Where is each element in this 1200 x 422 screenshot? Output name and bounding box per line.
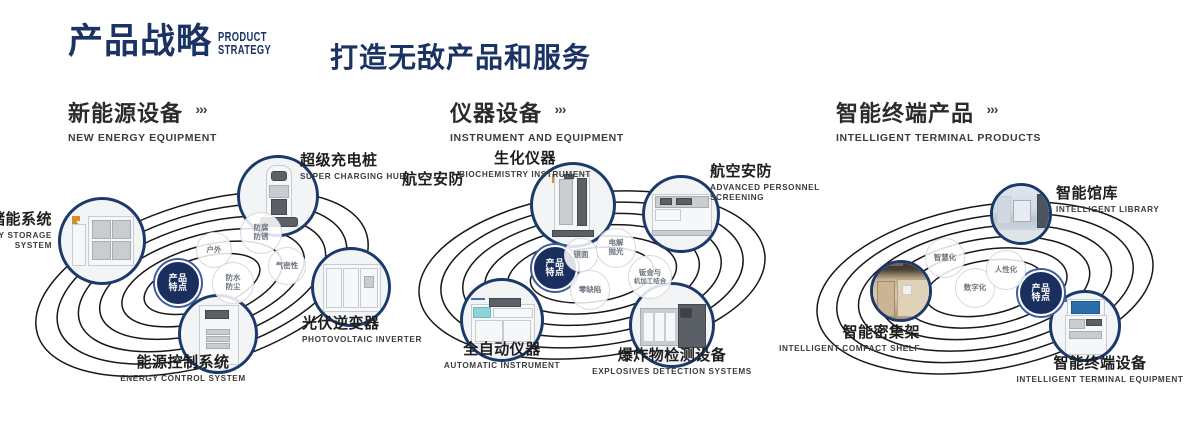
- pv-inverter-cabinet-icon: [323, 264, 379, 310]
- node-label-automatic-instrument: 全自动仪器 AUTOMATIC INSTRUMENT: [412, 342, 592, 371]
- page-title-english-line2: STRATEGY: [218, 43, 271, 56]
- chevron-right-icon: ›››: [554, 101, 565, 117]
- screening-machine-icon: [652, 194, 710, 234]
- node-label-cn: 全自动仪器: [412, 342, 592, 359]
- hub-label-line2: 特点: [1031, 293, 1050, 302]
- library-photo-icon: [993, 186, 1049, 242]
- node-label-cn: 能源控制系统: [78, 355, 288, 372]
- cluster-intelligent-terminal: 智能馆库 INTELLIGENT LIBRARY 智能密集架 INTELLIGE…: [800, 150, 1200, 422]
- feature-bubble-waterproof: 防水 防尘: [212, 262, 254, 304]
- feature-bubble-electropolishing: 电解 抛光: [596, 228, 636, 268]
- node-label-en: SUPER CHARGING HUB: [300, 172, 406, 182]
- page-title: 产品战略: [68, 24, 212, 59]
- cluster-new-energy: 储能系统 ENERGY STORAGE SYSTEM 超级充电桩 SUPER C…: [0, 150, 400, 422]
- node-label-terminal-equipment: 智能终端设备 INTELLIGENT TERMINAL EQUIPMENT: [1000, 356, 1200, 385]
- node-label-explosives-detection: 爆炸物检测设备 EXPLOSIVES DETECTION SYSTEMS: [582, 348, 762, 377]
- node-label-cn: 储能系统: [0, 212, 52, 229]
- node-circle-compact-shelf[interactable]: [870, 260, 932, 322]
- node-label-cn: 智能终端设备: [1000, 356, 1200, 373]
- feature-bubble-smart: 智慧化: [925, 238, 965, 278]
- node-label-cn: 爆炸物检测设备: [582, 348, 762, 365]
- hub-label-line2: 特点: [168, 283, 187, 292]
- node-label-en: INTELLIGENT LIBRARY: [1056, 205, 1159, 215]
- page-headline: 打造无敌产品和服务: [330, 36, 591, 76]
- node-label-compact-shelf: 智能密集架 INTELLIGENT COMPACT SHELF: [740, 325, 920, 354]
- node-label-cn: 智能馆库: [1056, 186, 1159, 203]
- node-label-en: BIOCHEMISTRY INSTRUMENT: [450, 170, 600, 180]
- node-circle-energy-storage[interactable]: [58, 197, 146, 285]
- hub-product-features[interactable]: 产品 特点: [1018, 270, 1064, 316]
- cluster-instruments: 航空安防 生化仪器 BIOCHEMISTRY INSTRUMENT: [392, 150, 792, 422]
- feature-bubble-mirror-finish: 镜面: [564, 238, 598, 272]
- feature-bubble-zero-defect: 零缺陷: [570, 270, 610, 310]
- node-label-cn: 超级充电桩: [300, 153, 406, 170]
- section-heading-cn: 仪器设备: [450, 96, 542, 128]
- page-header: 产品战略 PRODUCT STRATEGY 打造无敌产品和服务: [0, 0, 1200, 86]
- node-label-intelligent-library: 智能馆库 INTELLIGENT LIBRARY: [1056, 186, 1159, 215]
- self-service-kiosk-icon: [1063, 299, 1107, 353]
- feature-bubble-anticorrosion: 防腐 防锈: [240, 212, 282, 254]
- node-label-en: INTELLIGENT TERMINAL EQUIPMENT: [1000, 375, 1200, 385]
- node-label-biochemistry-instrument: 生化仪器 BIOCHEMISTRY INSTRUMENT: [450, 151, 600, 180]
- feature-bubble-airtightness: 气密性: [268, 247, 306, 285]
- section-heading-cn: 新能源设备: [68, 96, 183, 128]
- node-label-energy-storage: 储能系统 ENERGY STORAGE SYSTEM: [0, 212, 52, 251]
- section-heading-en: NEW ENERGY EQUIPMENT: [68, 132, 217, 144]
- feature-bubble-sheetmetal-machining: 钣金与 机加工结合: [628, 255, 672, 299]
- node-label-en: EXPLOSIVES DETECTION SYSTEMS: [582, 367, 762, 377]
- node-circle-personnel-screening[interactable]: [642, 175, 720, 253]
- node-label-cn: 生化仪器: [450, 151, 600, 168]
- energy-storage-cabinet-icon: [72, 216, 132, 266]
- product-strategy-infographic: 产品战略 PRODUCT STRATEGY 打造无敌产品和服务 新能源设备 ››…: [0, 0, 1200, 422]
- automatic-instrument-icon: [471, 298, 533, 342]
- section-heading-cn: 智能终端产品: [836, 96, 974, 128]
- node-label-cn: 智能密集架: [740, 325, 920, 342]
- hub-label-line2: 特点: [545, 268, 564, 277]
- chevron-right-icon: ›››: [986, 101, 997, 117]
- compact-shelf-photo-icon: [873, 263, 929, 319]
- section-heading-new-energy: 新能源设备 ››› NEW ENERGY EQUIPMENT: [68, 96, 217, 144]
- node-label-en: INTELLIGENT COMPACT SHELF: [740, 344, 920, 354]
- page-title-english: PRODUCT STRATEGY: [218, 30, 271, 56]
- section-heading-en: INTELLIGENT TERMINAL PRODUCTS: [836, 132, 1041, 144]
- node-label-en: ENERGY CONTROL SYSTEM: [78, 374, 288, 384]
- section-heading-instrument: 仪器设备 ››› INSTRUMENT AND EQUIPMENT: [450, 96, 624, 144]
- node-label-energy-control: 能源控制系统 ENERGY CONTROL SYSTEM: [78, 355, 288, 384]
- hub-product-features[interactable]: 产品 特点: [155, 260, 201, 306]
- chevron-right-icon: ›››: [195, 101, 206, 117]
- biochemistry-scanner-icon: [552, 174, 594, 236]
- node-label-charging-pile: 超级充电桩 SUPER CHARGING HUB: [300, 153, 406, 182]
- node-label-en: AUTOMATIC INSTRUMENT: [412, 361, 592, 371]
- section-heading-en: INSTRUMENT AND EQUIPMENT: [450, 132, 624, 144]
- explosives-detector-icon: [640, 304, 704, 346]
- feature-bubble-humanized: 人性化: [986, 250, 1026, 290]
- node-label-en: ENERGY STORAGE SYSTEM: [0, 231, 52, 252]
- node-circle-intelligent-library[interactable]: [990, 183, 1052, 245]
- section-heading-intelligent-terminal: 智能终端产品 ››› INTELLIGENT TERMINAL PRODUCTS: [836, 96, 1041, 144]
